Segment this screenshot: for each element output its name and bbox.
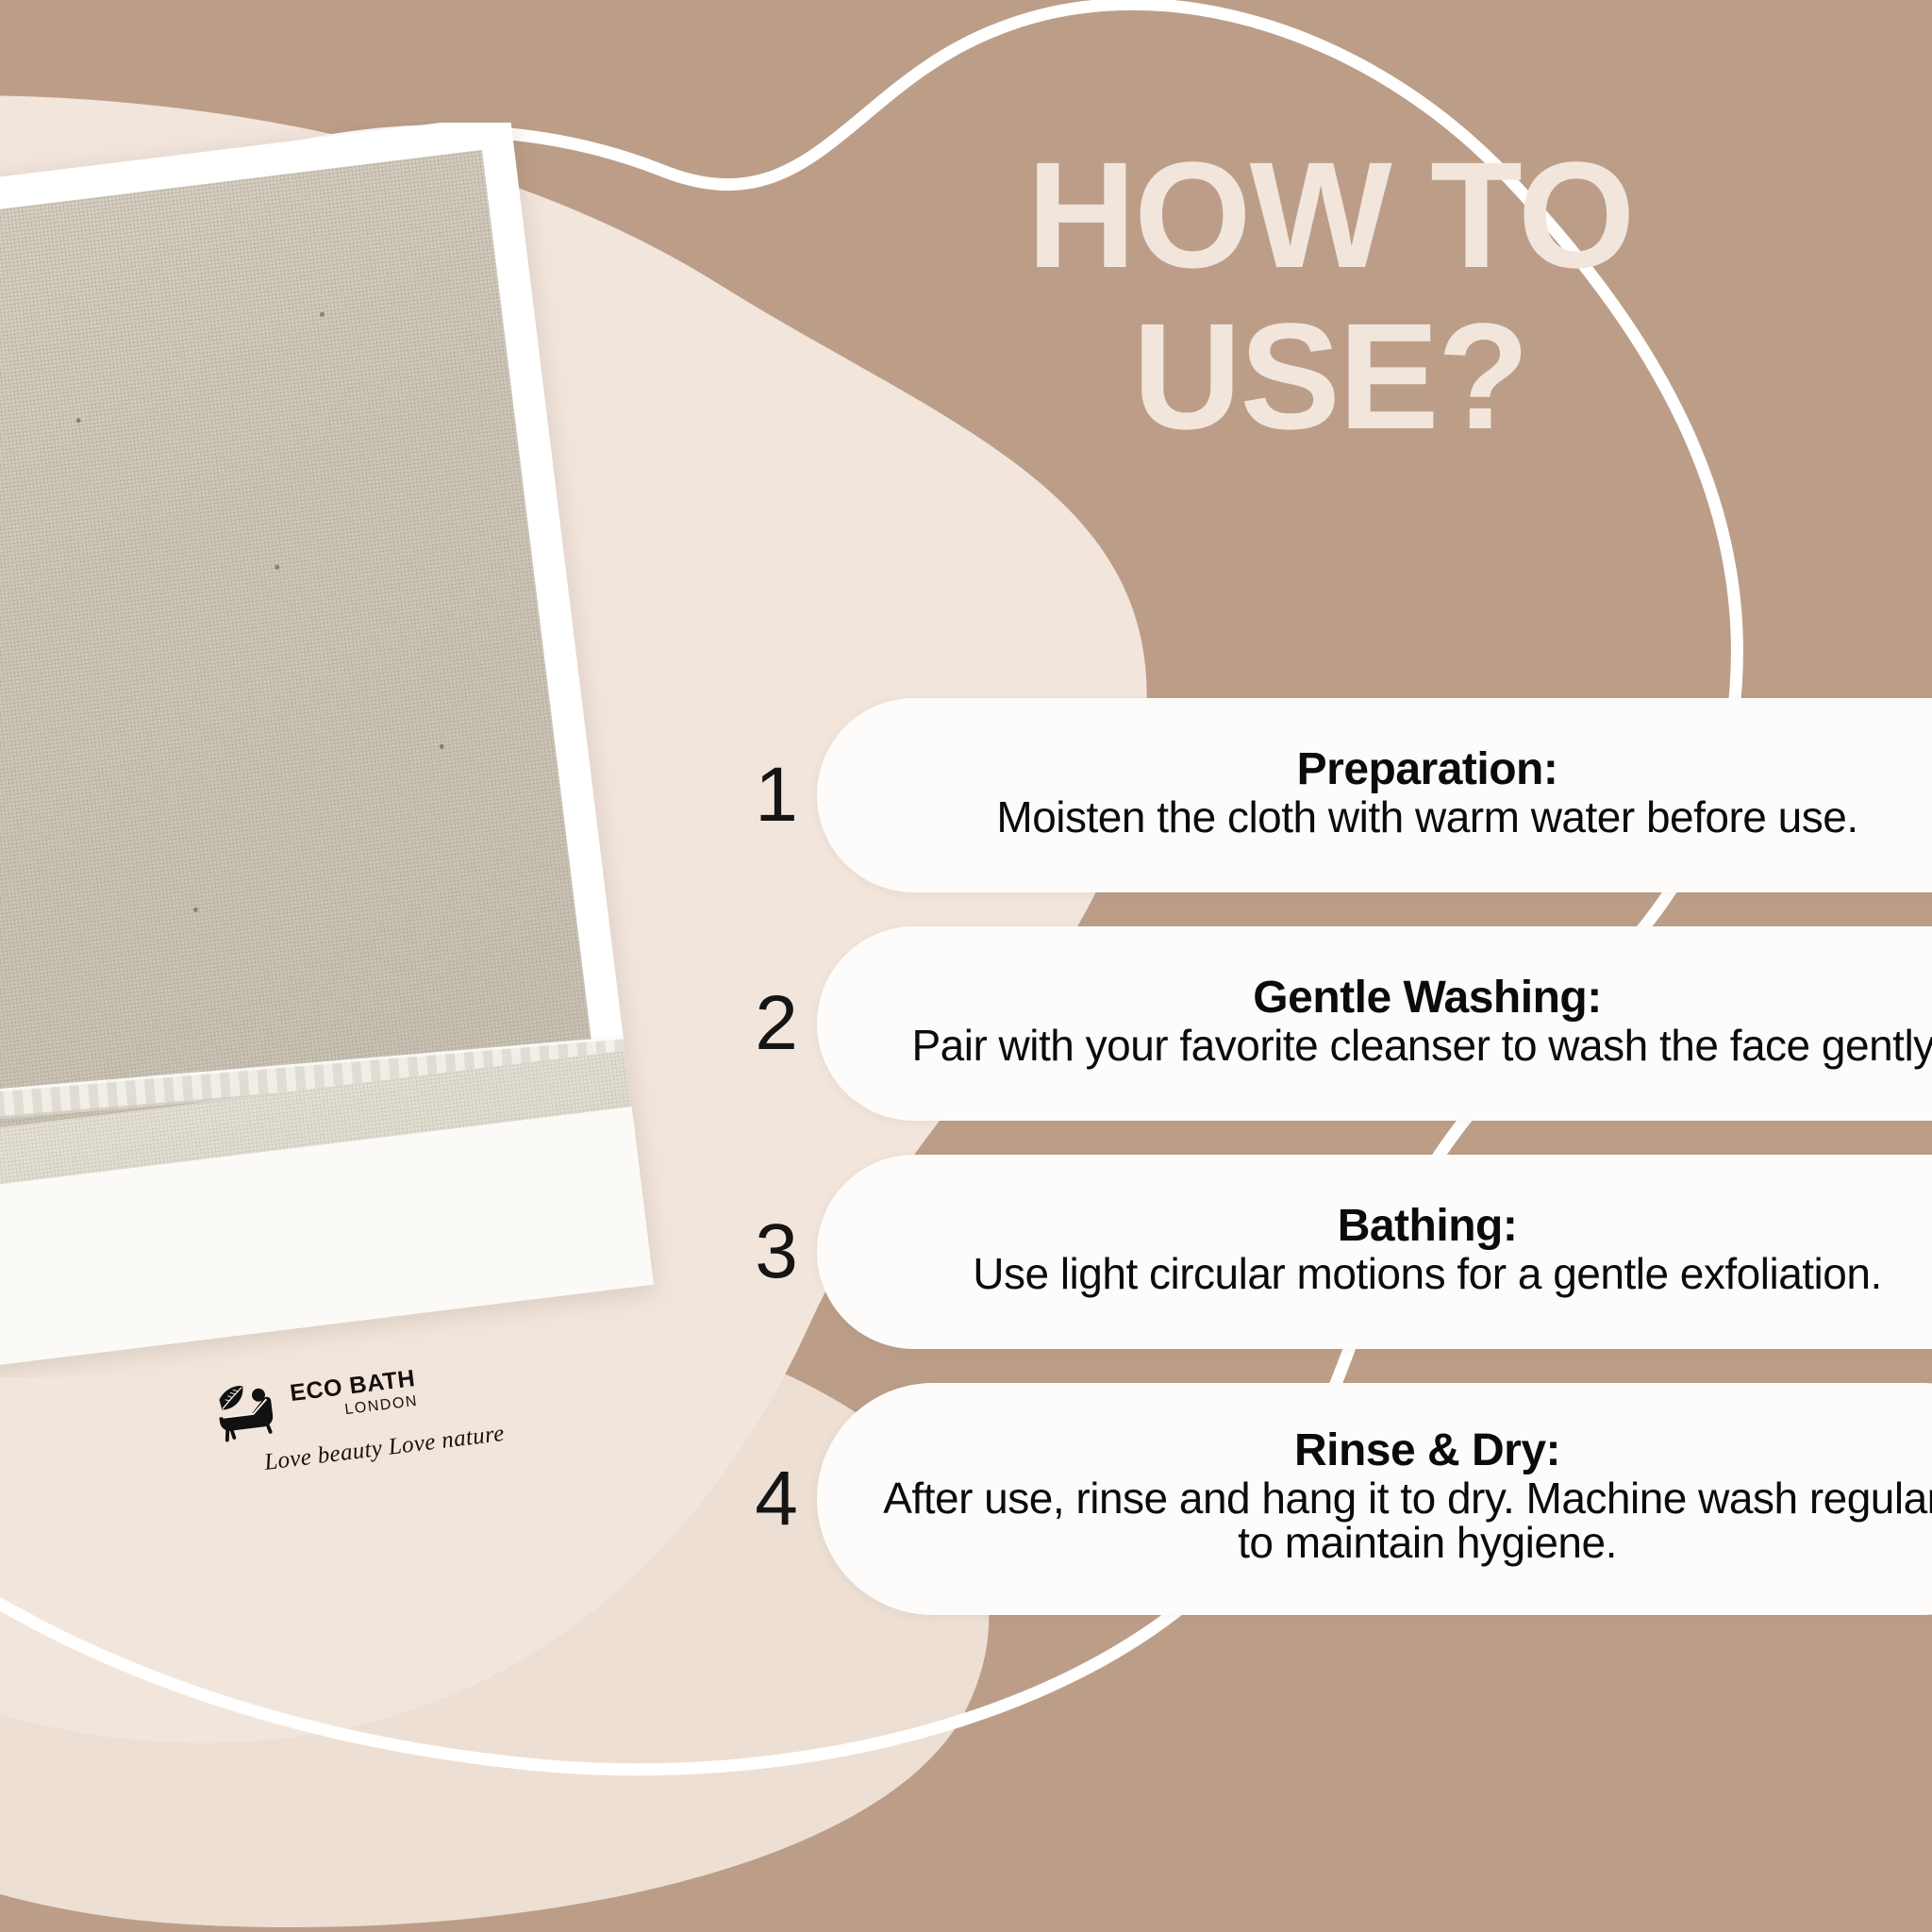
step-card: Rinse & Dry: After use, rinse and hang i… [817, 1383, 1932, 1615]
bathtub-leaf-icon [206, 1377, 286, 1444]
photo-card [0, 123, 654, 1377]
step-number: 4 [736, 1460, 817, 1538]
step-title: Gentle Washing: [883, 975, 1932, 1022]
list-item: 4 Rinse & Dry: After use, rinse and hang… [736, 1383, 1932, 1615]
step-title: Rinse & Dry: [883, 1428, 1932, 1474]
list-item: 1 Preparation: Moisten the cloth with wa… [736, 698, 1932, 892]
step-number: 2 [736, 985, 817, 1062]
step-body: After use, rinse and hang it to dry. Mac… [883, 1476, 1932, 1566]
list-item: 2 Gentle Washing: Pair with your favorit… [736, 926, 1932, 1121]
step-card: Gentle Washing: Pair with your favorite … [817, 926, 1932, 1121]
title-line-2: USE? [774, 303, 1887, 451]
step-body: Moisten the cloth with warm water before… [883, 795, 1932, 840]
step-card: Bathing: Use light circular motions for … [817, 1155, 1932, 1349]
page-title: HOW TO USE? [774, 142, 1887, 451]
infographic-canvas: ECO BATH LONDON Love beauty Love nature … [0, 0, 1932, 1932]
step-card: Preparation: Moisten the cloth with warm… [817, 698, 1932, 892]
step-number: 1 [736, 757, 817, 834]
list-item: 3 Bathing: Use light circular motions fo… [736, 1155, 1932, 1349]
product-photo [0, 123, 830, 1377]
step-body: Pair with your favorite cleanser to wash… [883, 1024, 1932, 1068]
step-title: Preparation: [883, 747, 1932, 793]
steps-list: 1 Preparation: Moisten the cloth with wa… [736, 698, 1932, 1649]
title-line-1: HOW TO [774, 142, 1887, 290]
step-number: 3 [736, 1213, 817, 1291]
step-title: Bathing: [883, 1204, 1932, 1250]
step-body: Use light circular motions for a gentle … [883, 1252, 1932, 1296]
